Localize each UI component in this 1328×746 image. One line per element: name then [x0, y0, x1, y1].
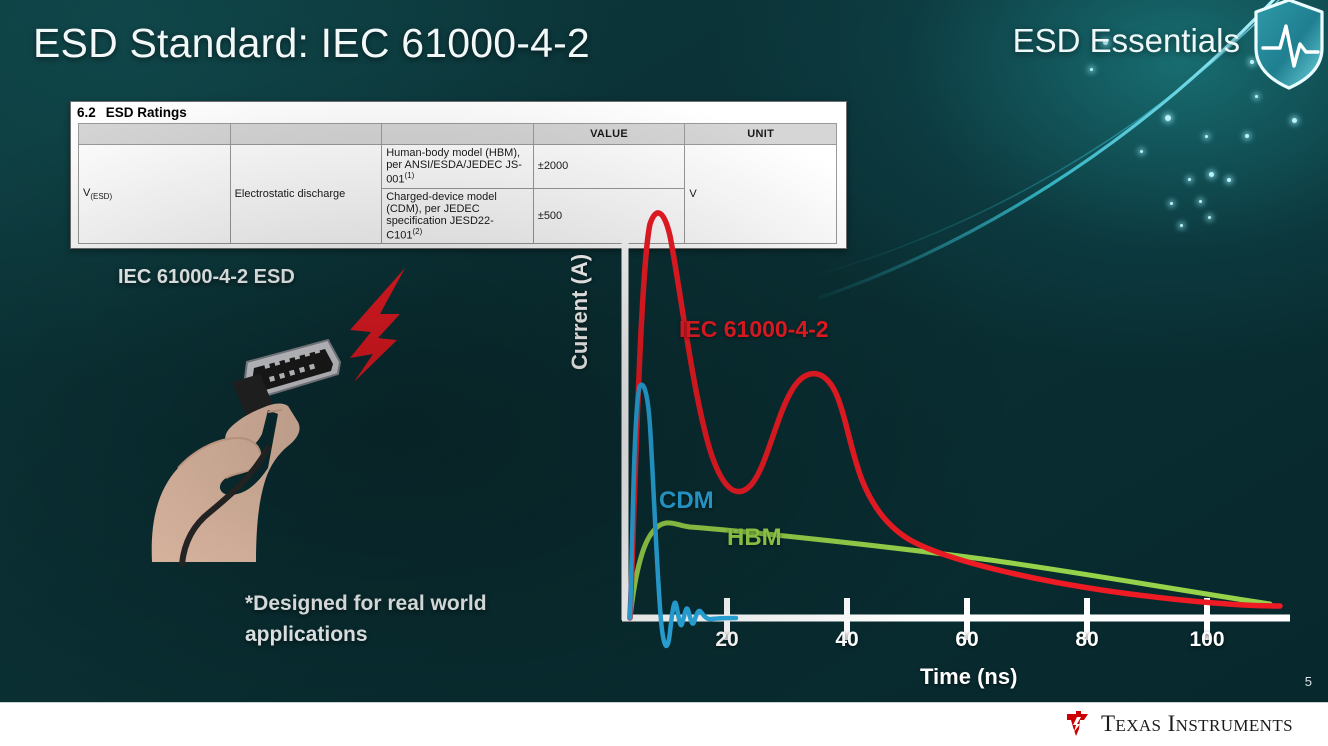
wordmark-nstruments: NSTRUMENTS	[1176, 716, 1293, 735]
series-cdm-curve	[630, 385, 736, 646]
sparkle-dot	[1090, 68, 1093, 71]
section-number: 6.2	[77, 105, 96, 120]
header-blank-description	[382, 124, 534, 145]
x-tick-label: 20	[715, 628, 738, 652]
sparkle-dot	[1255, 95, 1258, 98]
cell-description-hbm: Human-body model (HBM), per ANSI/ESDA/JE…	[382, 145, 534, 189]
sparkle-dot	[1140, 150, 1143, 153]
lightning-bolt-icon	[350, 268, 405, 382]
header-unit: UNIT	[685, 124, 837, 145]
hand-holding-hdmi-connector-icon	[92, 262, 432, 572]
design-note: *Designed for real world applications	[245, 588, 545, 650]
header-blank-parameter	[230, 124, 382, 145]
cell-symbol: V(ESD)	[79, 145, 231, 244]
x-tick-label: 80	[1075, 628, 1098, 652]
esd-waveform-chart	[570, 200, 1300, 700]
description-text: Charged-device model (CDM), per JEDEC sp…	[386, 191, 497, 242]
cell-parameter: Electrostatic discharge	[230, 145, 382, 244]
slide-canvas: ESD Standard: IEC 61000-4-2 ESD Essentia…	[0, 0, 1328, 702]
header-value: VALUE	[533, 124, 685, 145]
symbol-subscript: (ESD)	[90, 192, 112, 201]
sparkle-dot	[1188, 178, 1191, 181]
slide-number: 5	[1305, 674, 1312, 689]
cell-value-hbm: ±2000	[533, 145, 685, 189]
brand-title: ESD Essentials	[1013, 22, 1240, 60]
sparkle-dot	[1205, 135, 1208, 138]
sparkle-dot	[1209, 172, 1214, 177]
table-row: V(ESD) Electrostatic discharge Human-bod…	[79, 145, 837, 189]
sparkle-dot	[1245, 134, 1249, 138]
table-header-row: VALUE UNIT	[79, 124, 837, 145]
x-tick-label: 100	[1189, 628, 1224, 652]
series-label-hbm: HBM	[727, 524, 782, 552]
slide: ESD Standard: IEC 61000-4-2 ESD Essentia…	[0, 0, 1328, 746]
sparkle-dot	[1292, 118, 1297, 123]
texas-instruments-logo-icon	[1062, 709, 1092, 739]
series-label-iec: IEC 61000-4-2	[679, 316, 829, 343]
series-label-cdm: CDM	[659, 487, 714, 515]
wordmark-exas: EXAS	[1115, 716, 1161, 735]
texas-instruments-wordmark: TEXAS INSTRUMENTS	[1101, 711, 1293, 737]
texas-instruments-logo: TEXAS INSTRUMENTS	[1062, 709, 1293, 739]
page-title: ESD Standard: IEC 61000-4-2	[33, 20, 590, 67]
series-iec-curve	[630, 213, 1280, 618]
footnote-marker: (1)	[405, 171, 415, 180]
hand-icon	[152, 404, 300, 562]
footnote-marker: (2)	[412, 227, 422, 236]
sparkle-dot	[1165, 115, 1171, 121]
header-blank-symbol	[79, 124, 231, 145]
wordmark-t: T	[1101, 711, 1115, 736]
section-title: ESD Ratings	[106, 105, 187, 120]
wordmark-i: I	[1168, 711, 1176, 736]
cell-description-cdm: Charged-device model (CDM), per JEDEC sp…	[382, 188, 534, 244]
shield-pulse-icon	[1250, 0, 1328, 92]
x-tick-label: 60	[955, 628, 978, 652]
esd-ratings-title: 6.2ESD Ratings	[71, 102, 846, 123]
slide-footer: TEXAS INSTRUMENTS	[0, 702, 1328, 746]
x-tick-label: 40	[835, 628, 858, 652]
sparkle-dot	[1227, 178, 1231, 182]
